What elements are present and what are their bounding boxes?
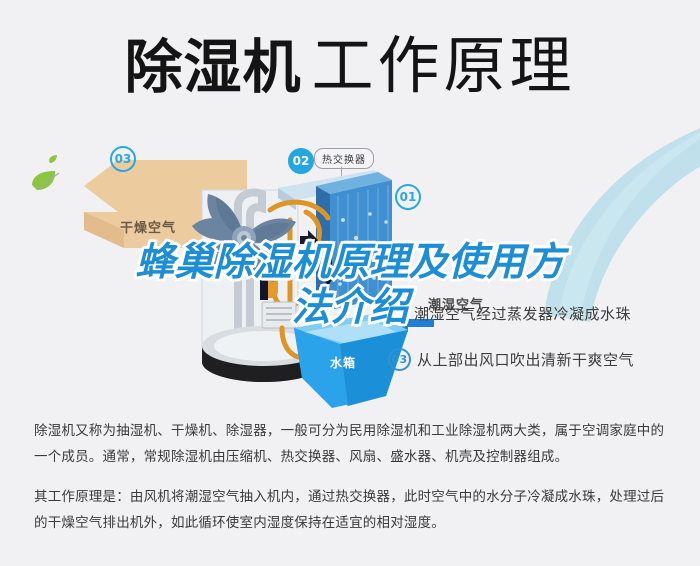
caption-condensation: 潮湿空气经过蒸发器冷凝成水珠: [414, 303, 631, 324]
page-root: 除湿机 工作原理: [0, 0, 700, 566]
caption-outlet-text: 从上部出风口吹出清新干爽空气: [417, 349, 634, 370]
page-title: 除湿机 工作原理: [124, 35, 575, 97]
body-paragraph-2: 其工作原理是：由风机将潮湿空气抽入机内，通过热交换器，此时空气中的水分子冷凝成水…: [34, 484, 668, 536]
water-tank-label: 水箱: [330, 354, 356, 371]
body-paragraph-1: 除湿机又称为抽湿机、干燥机、除湿器，一般可分为民用除湿机和工业除湿机两大类，属于…: [34, 418, 668, 470]
caption-badge-03: 03: [388, 348, 411, 371]
diagram-stage: 干燥空气 03 02 热交换器 01: [0, 122, 700, 410]
caption-condensation-text: 潮湿空气经过蒸发器冷凝成水珠: [414, 303, 631, 324]
dry-air-label: 干燥空气: [120, 217, 176, 236]
page-title-part1: 除湿机: [124, 38, 301, 96]
page-title-part2: 工作原理: [312, 35, 576, 97]
badge-03-dry-air: 03: [110, 146, 136, 172]
leaf-icon-small: [47, 154, 59, 166]
caption-outlet: 03 从上部出风口吹出清新干爽空气: [388, 348, 634, 371]
body-copy: 除湿机又称为抽湿机、干燥机、除湿器，一般可分为民用除湿机和工业除湿机两大类，属于…: [34, 418, 668, 536]
fan-blades-icon: [182, 180, 302, 290]
page-header: 除湿机 工作原理: [0, 22, 700, 110]
leaf-icon-large: [29, 169, 63, 193]
